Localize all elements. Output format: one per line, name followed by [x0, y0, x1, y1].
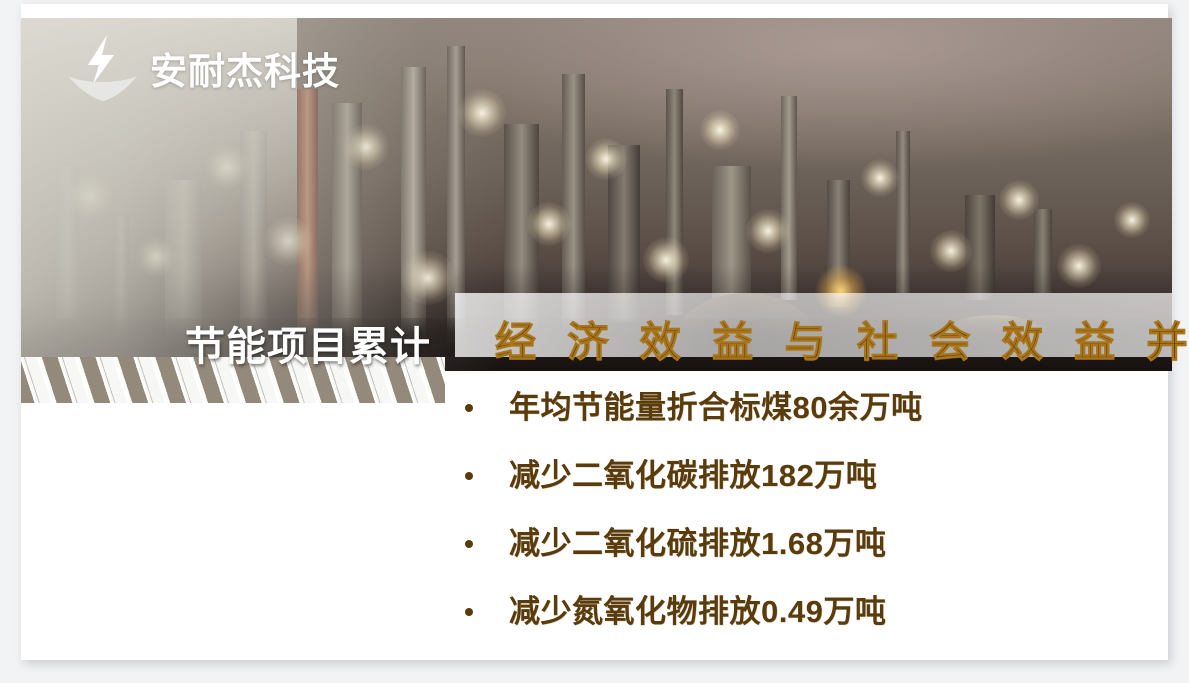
slide-canvas: 安耐杰科技 节能项目累计 经 济 效 益 与 社 会 效 益 并 举 年均节能量… — [0, 0, 1189, 683]
list-item: 减少二氧化硫排放1.68万吨 — [465, 518, 1125, 586]
list-item-label: 减少二氧化碳排放182万吨 — [509, 450, 877, 495]
lightning-bolt-chevron-icon — [66, 32, 140, 104]
brand-logo: 安耐杰科技 — [66, 32, 340, 104]
bullet-marker-icon — [465, 472, 473, 480]
bullet-marker-icon — [465, 608, 473, 616]
bullet-marker-icon — [465, 404, 473, 412]
list-item-label: 年均节能量折合标煤80余万吨 — [509, 382, 922, 427]
brand-name: 安耐杰科技 — [150, 41, 340, 95]
bullet-list: 年均节能量折合标煤80余万吨 减少二氧化碳排放182万吨 减少二氧化硫排放1.6… — [465, 382, 1125, 654]
slide-card: 安耐杰科技 节能项目累计 经 济 效 益 与 社 会 效 益 并 举 年均节能量… — [21, 4, 1168, 660]
list-item: 年均节能量折合标煤80余万吨 — [465, 382, 1125, 450]
list-item-label: 减少氮氧化物排放0.49万吨 — [509, 586, 886, 631]
list-item: 减少氮氧化物排放0.49万吨 — [465, 586, 1125, 654]
list-item: 减少二氧化碳排放182万吨 — [465, 450, 1125, 518]
section-heading: 经 济 效 益 与 社 会 效 益 并 举 — [495, 308, 1189, 368]
bullet-marker-icon — [465, 540, 473, 548]
section-subheading: 节能项目累计 — [185, 314, 431, 372]
list-item-label: 减少二氧化硫排放1.68万吨 — [509, 518, 886, 563]
